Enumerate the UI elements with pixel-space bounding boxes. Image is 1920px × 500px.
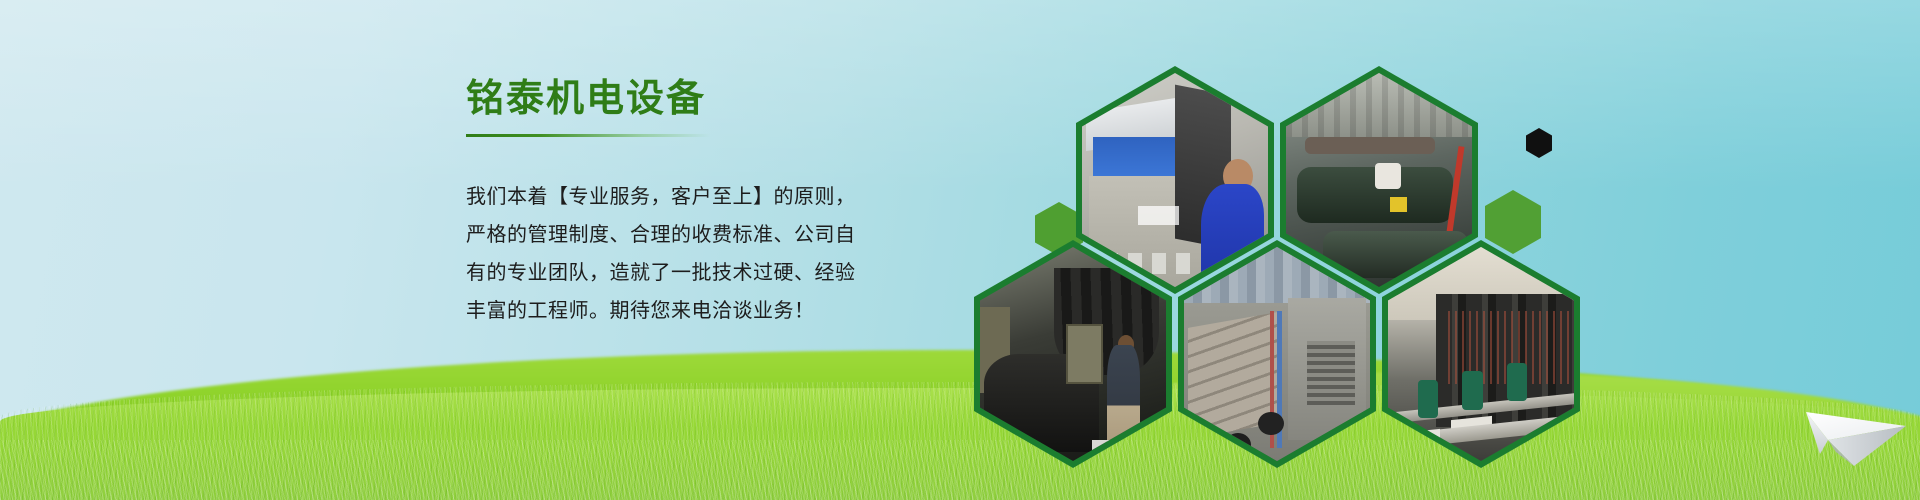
description-line-4: 丰富的工程师。期待您来电洽谈业务！ <box>466 291 886 329</box>
banner-description: 我们本着【专业服务，客户至上】的原则， 严格的管理制度、合理的收费标准、公司自 … <box>466 177 886 329</box>
description-line-3: 有的专业团队，造就了一批技术过硬、经验 <box>466 253 886 291</box>
gallery-photo-condenser-units <box>1388 247 1574 461</box>
banner-text-block: 铭泰机电设备 我们本着【专业服务，客户至上】的原则， 严格的管理制度、合理的收费… <box>466 78 886 329</box>
description-line-1: 我们本着【专业服务，客户至上】的原则， <box>466 177 886 215</box>
page-title: 铭泰机电设备 <box>466 78 886 120</box>
description-line-2: 严格的管理制度、合理的收费标准、公司自 <box>466 215 886 253</box>
decorative-hexagon-green-right <box>1485 190 1541 254</box>
hexagon-photo-gallery <box>960 40 1580 460</box>
gallery-photo-compressor <box>1286 73 1472 287</box>
paper-plane-icon <box>1792 382 1910 470</box>
title-underline <box>466 134 710 137</box>
hero-banner: 铭泰机电设备 我们本着【专业服务，客户至上】的原则， 严格的管理制度、合理的收费… <box>0 0 1920 500</box>
gallery-photo-ice-machine <box>1082 73 1268 287</box>
gallery-photo-rooftop-hvac <box>1184 247 1370 461</box>
decorative-hexagon-black <box>1526 128 1552 158</box>
gallery-photo-machine-room <box>980 247 1166 461</box>
